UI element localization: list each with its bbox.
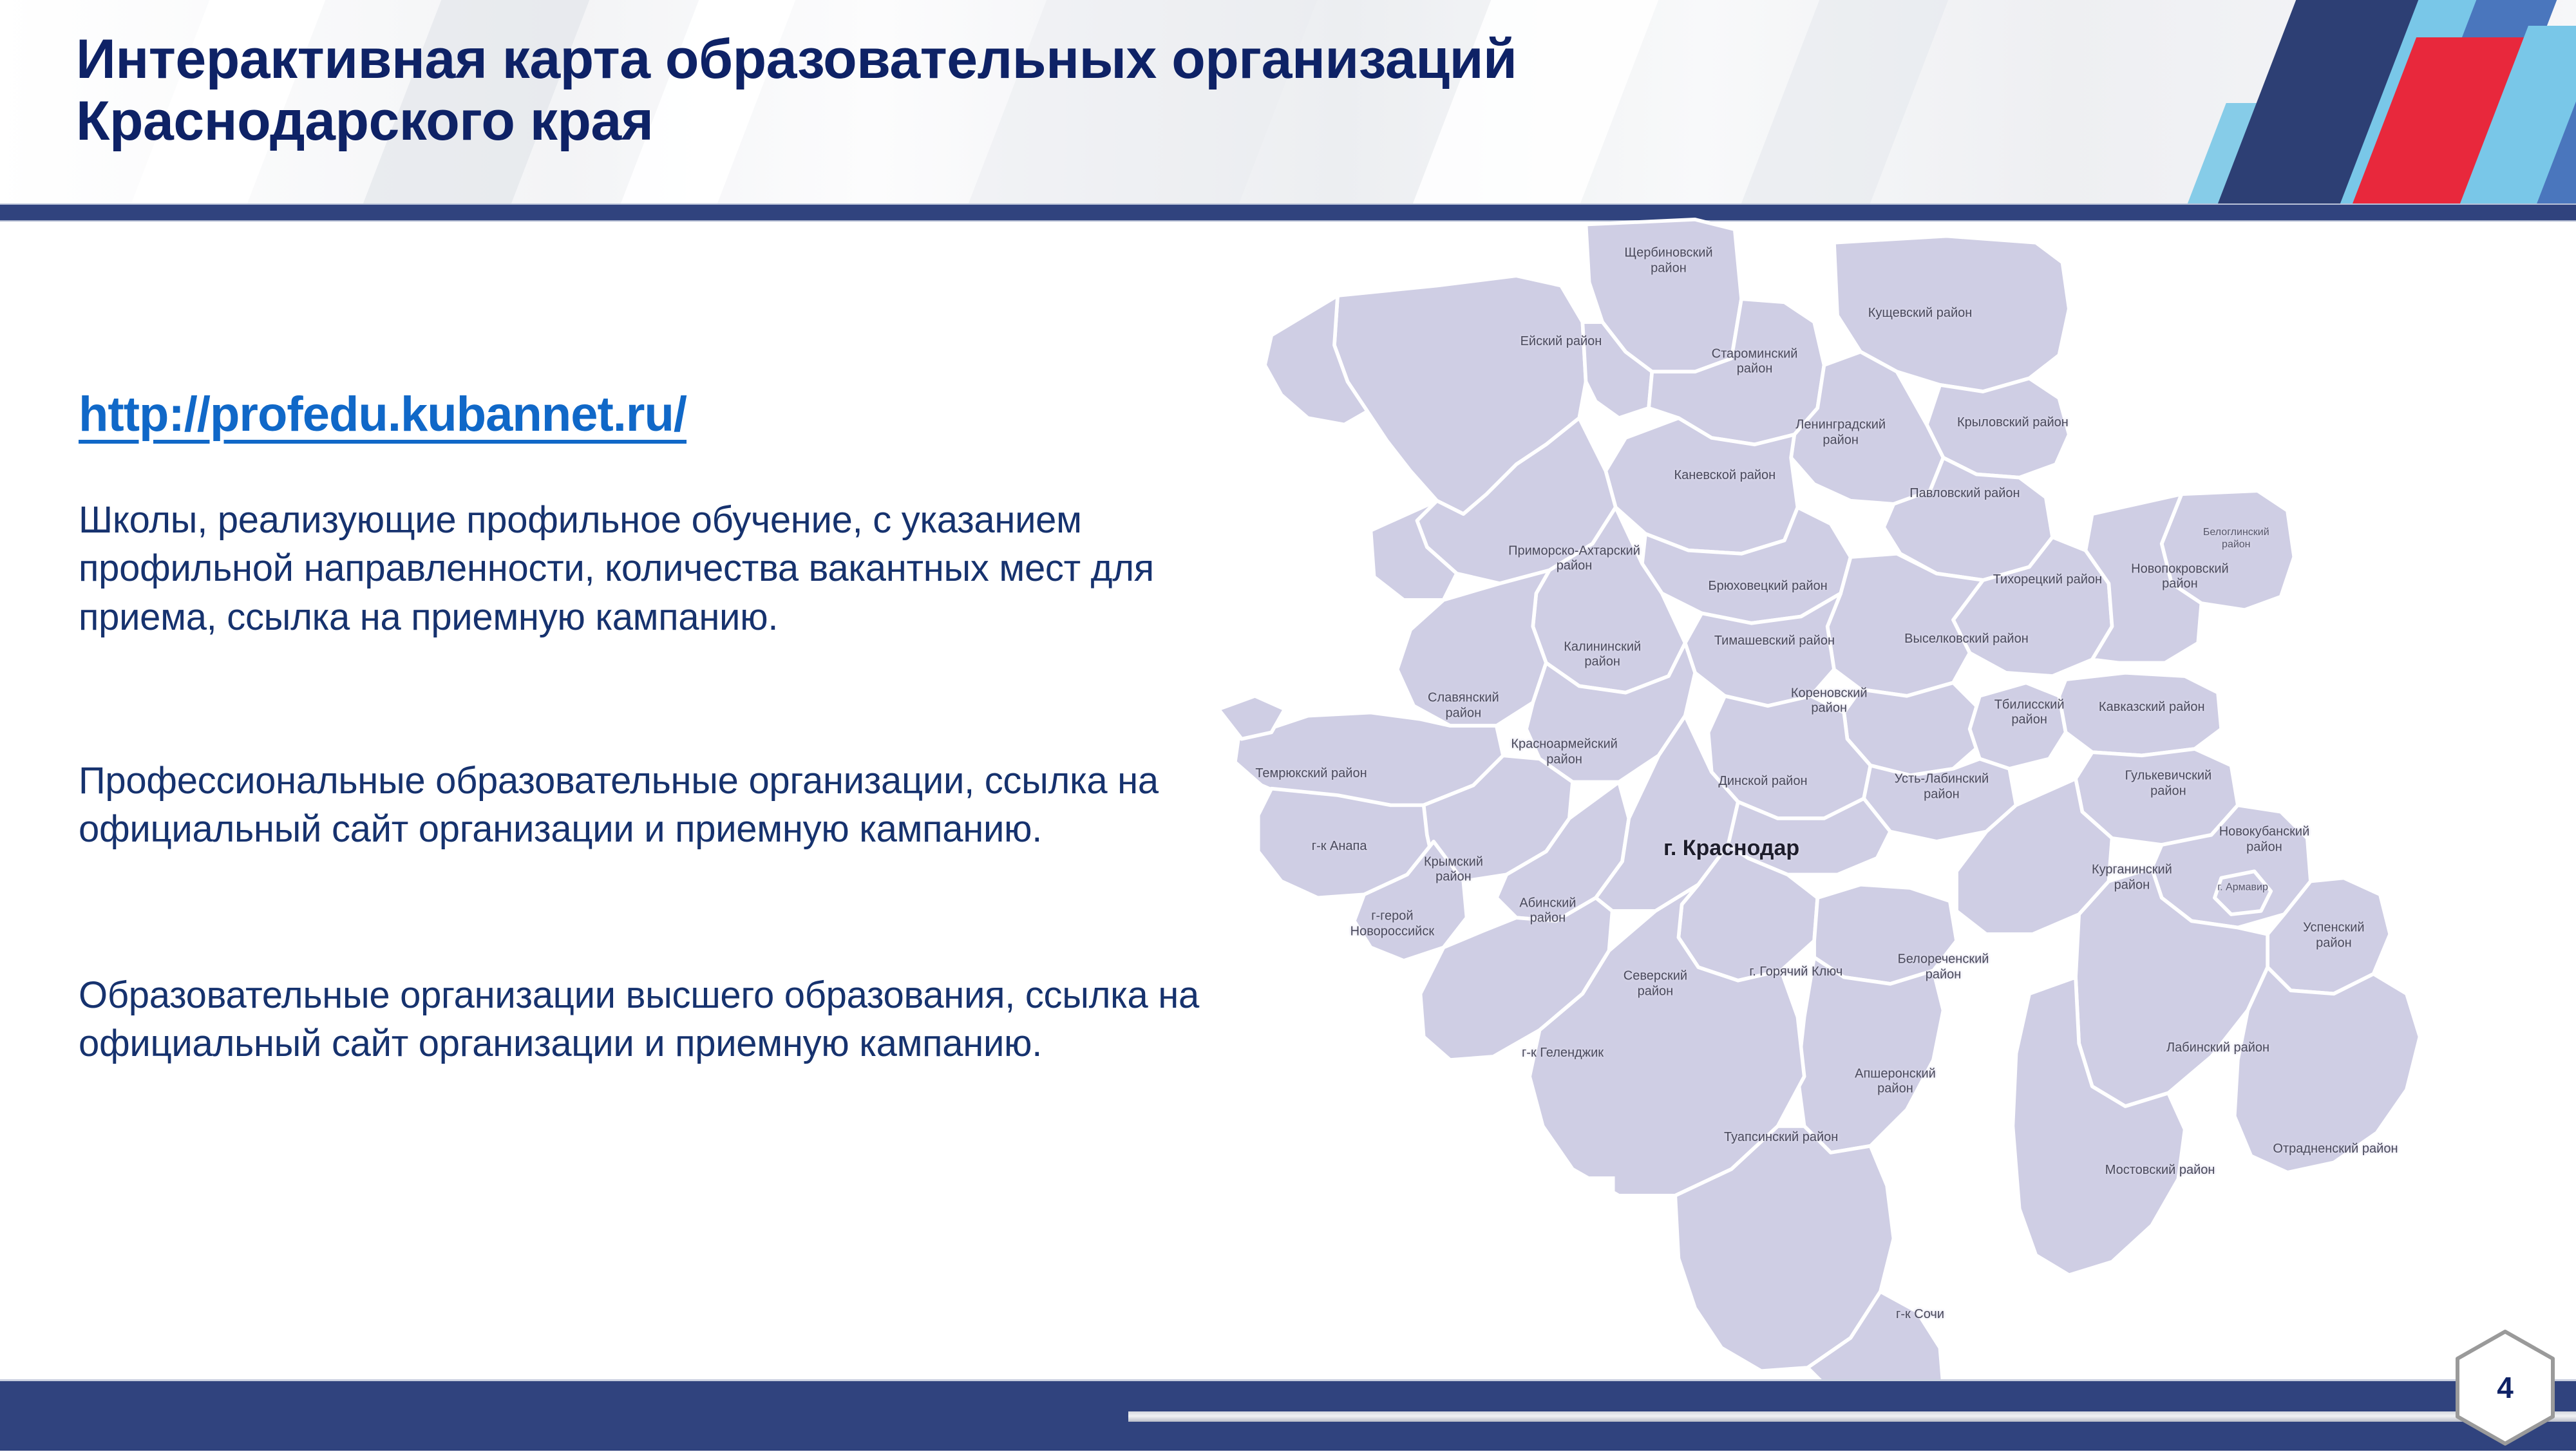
map-svg — [1191, 200, 2576, 1391]
paragraph-schools: Школы, реализующие профильное обучение, … — [79, 496, 1302, 641]
paragraph-higher-ed: Образовательные организации высшего обра… — [79, 971, 1302, 1068]
footer-accent-line — [1128, 1411, 2576, 1422]
page-title: Интерактивная карта образовательных орга… — [76, 28, 1944, 153]
slide-header: Интерактивная карта образовательных орга… — [0, 0, 2576, 212]
page-number-badge: 4 — [2447, 1326, 2563, 1449]
page-number: 4 — [2447, 1326, 2563, 1449]
paragraph-vocational: Профессиональные образовательные организ… — [79, 757, 1302, 854]
profedu-link[interactable]: http://profedu.kubannet.ru/ — [79, 386, 687, 442]
krasnodar-krai-map[interactable]: Щербиновский районКущевский районЕйский … — [1191, 200, 2576, 1391]
slide-content: http://profedu.kubannet.ru/ Школы, реали… — [0, 219, 2576, 1378]
